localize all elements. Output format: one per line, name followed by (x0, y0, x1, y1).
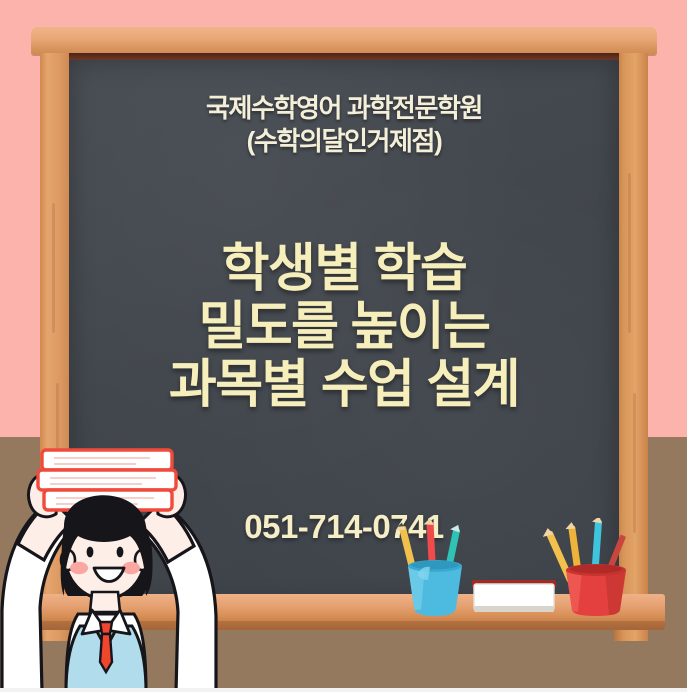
blue-pencil-cup-group (394, 518, 462, 616)
desk-objects-illustration (380, 518, 640, 618)
frame-top-cap (31, 27, 657, 55)
student-cheek-left (70, 562, 88, 574)
headline-line-3: 과목별 수업 설계 (69, 356, 619, 414)
headline-message: 학생별 학습 밀도를 높이는 과목별 수업 설계 (69, 240, 619, 415)
bottom-edge-strip (0, 688, 687, 692)
academy-name-line-1: 국제수학영어 과학전문학원 (69, 92, 619, 125)
student-tie (100, 634, 112, 672)
white-book-group (472, 580, 556, 612)
academy-name-line-2: (수학의달인거제점) (69, 125, 619, 158)
student-tie-knot (100, 622, 112, 634)
student-eye-right (117, 547, 124, 558)
student-eye-left (87, 547, 94, 558)
headline-line-2: 밀도를 높이는 (69, 298, 619, 356)
academy-name-subtitle: 국제수학영어 과학전문학원 (수학의달인거제점) (69, 92, 619, 158)
student-right-arm (136, 502, 216, 692)
student-illustration (0, 440, 230, 692)
poster-canvas: 국제수학영어 과학전문학원 (수학의달인거제점) 학생별 학습 밀도를 높이는 … (0, 0, 687, 692)
headline-line-1: 학생별 학습 (69, 240, 619, 298)
